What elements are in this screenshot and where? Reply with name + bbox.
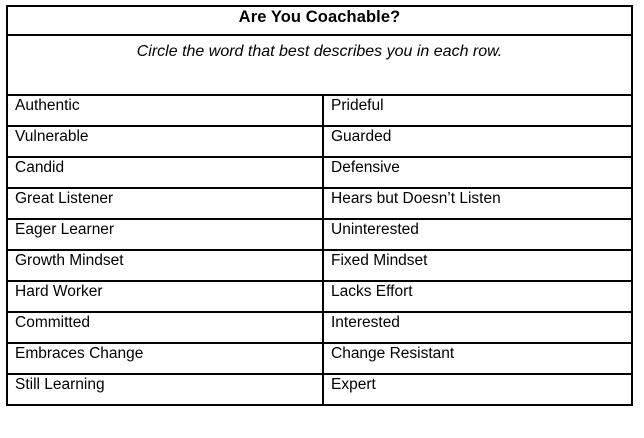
negative-trait-label[interactable]: Guarded: [324, 127, 631, 146]
table-row: Committed Interested: [7, 312, 632, 343]
worksheet-table-body: Are You Coachable? Circle the word that …: [7, 6, 632, 405]
positive-trait-label[interactable]: Committed: [8, 313, 322, 332]
table-row: Growth Mindset Fixed Mindset: [7, 250, 632, 281]
positive-trait-label[interactable]: Embraces Change: [8, 344, 322, 363]
table-row: Vulnerable Guarded: [7, 126, 632, 157]
positive-trait-cell[interactable]: Vulnerable: [7, 126, 323, 157]
positive-trait-cell[interactable]: Still Learning: [7, 374, 323, 405]
positive-trait-cell[interactable]: Embraces Change: [7, 343, 323, 374]
negative-trait-label[interactable]: Fixed Mindset: [324, 251, 631, 270]
coachability-worksheet-table: Are You Coachable? Circle the word that …: [6, 5, 633, 406]
negative-trait-label[interactable]: Defensive: [324, 158, 631, 177]
negative-trait-cell[interactable]: Expert: [323, 374, 632, 405]
positive-trait-cell[interactable]: Hard Worker: [7, 281, 323, 312]
negative-trait-cell[interactable]: Hears but Doesn’t Listen: [323, 188, 632, 219]
positive-trait-label[interactable]: Growth Mindset: [8, 251, 322, 270]
table-row: Candid Defensive: [7, 157, 632, 188]
positive-trait-label[interactable]: Great Listener: [8, 189, 322, 208]
negative-trait-cell[interactable]: Fixed Mindset: [323, 250, 632, 281]
negative-trait-cell[interactable]: Lacks Effort: [323, 281, 632, 312]
table-row: Still Learning Expert: [7, 374, 632, 405]
worksheet-page: Are You Coachable? Circle the word that …: [0, 0, 644, 438]
negative-trait-label[interactable]: Prideful: [324, 96, 631, 115]
instruction-row: Circle the word that best describes you …: [7, 35, 632, 95]
table-row: Embraces Change Change Resistant: [7, 343, 632, 374]
page-title: Are You Coachable?: [8, 7, 631, 27]
positive-trait-label[interactable]: Still Learning: [8, 375, 322, 394]
positive-trait-label[interactable]: Candid: [8, 158, 322, 177]
positive-trait-cell[interactable]: Eager Learner: [7, 219, 323, 250]
negative-trait-label[interactable]: Uninterested: [324, 220, 631, 239]
table-row: Eager Learner Uninterested: [7, 219, 632, 250]
negative-trait-label[interactable]: Change Resistant: [324, 344, 631, 363]
instruction-text: Circle the word that best describes you …: [8, 36, 631, 62]
negative-trait-cell[interactable]: Change Resistant: [323, 343, 632, 374]
negative-trait-label[interactable]: Interested: [324, 313, 631, 332]
table-row: Hard Worker Lacks Effort: [7, 281, 632, 312]
positive-trait-label[interactable]: Hard Worker: [8, 282, 322, 301]
negative-trait-cell[interactable]: Defensive: [323, 157, 632, 188]
instruction-cell: Circle the word that best describes you …: [7, 35, 632, 95]
positive-trait-cell[interactable]: Committed: [7, 312, 323, 343]
negative-trait-cell[interactable]: Uninterested: [323, 219, 632, 250]
positive-trait-cell[interactable]: Great Listener: [7, 188, 323, 219]
title-row: Are You Coachable?: [7, 6, 632, 35]
negative-trait-cell[interactable]: Guarded: [323, 126, 632, 157]
negative-trait-label[interactable]: Lacks Effort: [324, 282, 631, 301]
negative-trait-label[interactable]: Hears but Doesn’t Listen: [324, 189, 631, 208]
positive-trait-cell[interactable]: Growth Mindset: [7, 250, 323, 281]
title-cell: Are You Coachable?: [7, 6, 632, 35]
negative-trait-cell[interactable]: Prideful: [323, 95, 632, 126]
positive-trait-label[interactable]: Eager Learner: [8, 220, 322, 239]
positive-trait-label[interactable]: Vulnerable: [8, 127, 322, 146]
negative-trait-cell[interactable]: Interested: [323, 312, 632, 343]
positive-trait-cell[interactable]: Candid: [7, 157, 323, 188]
positive-trait-label[interactable]: Authentic: [8, 96, 322, 115]
positive-trait-cell[interactable]: Authentic: [7, 95, 323, 126]
table-row: Authentic Prideful: [7, 95, 632, 126]
negative-trait-label[interactable]: Expert: [324, 375, 631, 394]
table-row: Great Listener Hears but Doesn’t Listen: [7, 188, 632, 219]
